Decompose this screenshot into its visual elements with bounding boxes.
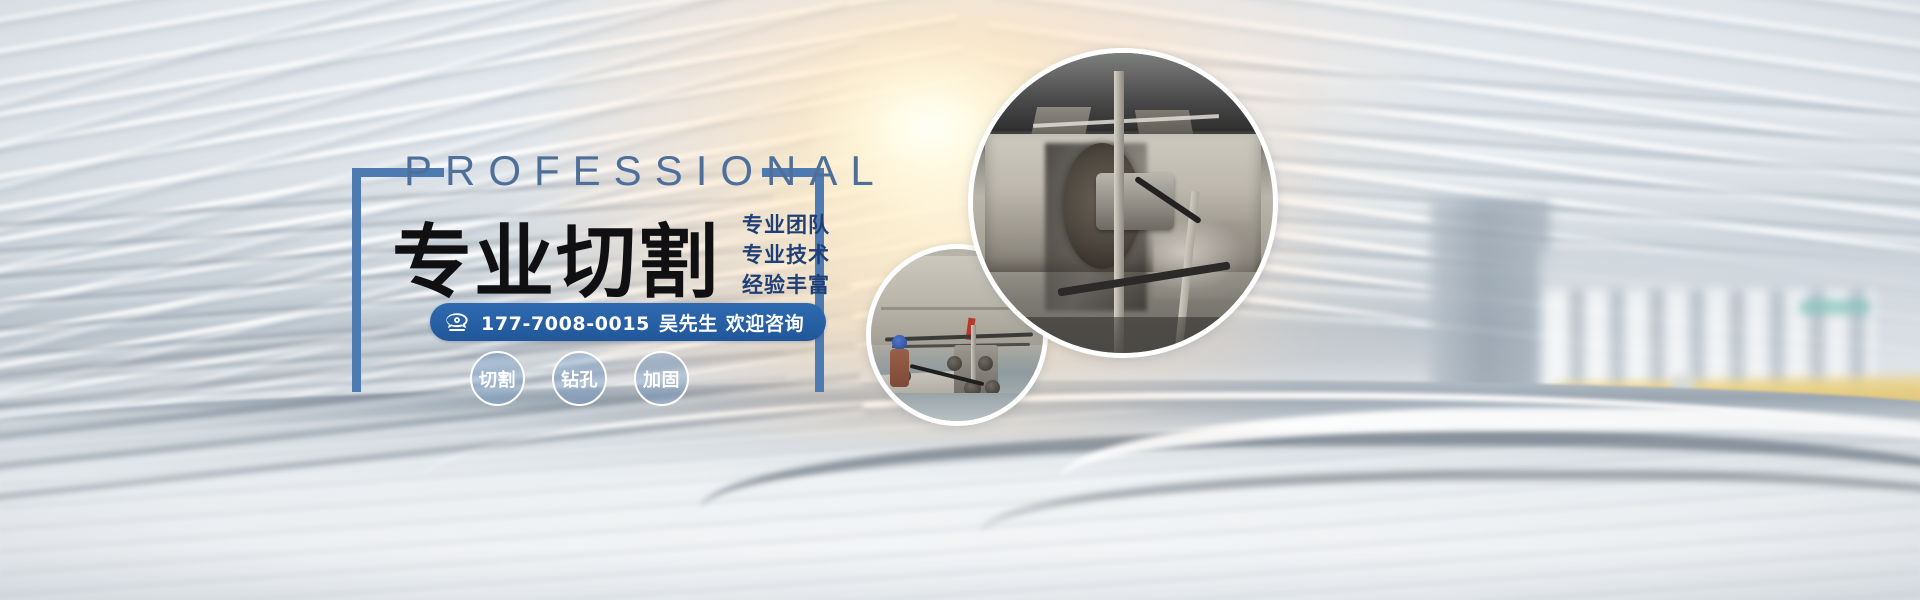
headline-block: PROFESSIONAL [404, 150, 887, 192]
saw-blade-2 [978, 356, 993, 371]
service-button-cutting[interactable]: 切割 [470, 351, 525, 406]
saw-blade-1 [947, 356, 962, 371]
photo-large-inner [973, 53, 1273, 353]
contact-text: 177-7008-0015吴先生欢迎咨询 [481, 309, 804, 336]
phone-number: 177-7008-0015 [481, 313, 650, 335]
photo-circle-wall-saw-cutting-concrete-beam [968, 48, 1278, 358]
contact-phone-pill[interactable]: 177-7008-0015吴先生欢迎咨询 [430, 303, 826, 341]
contact-invite: 欢迎咨询 [726, 313, 804, 335]
feature-item-2: 专业技术 [742, 242, 830, 269]
contact-person: 吴先生 [659, 313, 718, 335]
eyebrow-professional: PROFESSIONAL [404, 150, 887, 192]
page-title: 专业切割 [392, 223, 720, 303]
feature-item-3: 经验丰富 [742, 272, 830, 299]
title-row: 专业切割 专业团队 专业技术 经验丰富 [392, 212, 830, 303]
photo-large-floor [973, 317, 1273, 353]
bracket-left-vertical [352, 168, 361, 392]
service-buttons: 切割 钻孔 加固 [470, 351, 689, 406]
feature-list: 专业团队 专业技术 经验丰富 [742, 212, 830, 299]
service-button-reinforcement[interactable]: 加固 [634, 351, 689, 406]
feature-item-1: 专业团队 [742, 212, 830, 239]
promo-banner: PROFESSIONAL 专业切割 专业团队 专业技术 经验丰富 177-700… [0, 0, 1920, 600]
telephone-icon [444, 309, 470, 335]
photo-small-floor [871, 393, 1043, 421]
concrete-debris [1153, 221, 1255, 299]
service-button-drilling[interactable]: 钻孔 [552, 351, 607, 406]
worker-body [890, 349, 909, 387]
vertical-guide-rail [1114, 71, 1124, 353]
